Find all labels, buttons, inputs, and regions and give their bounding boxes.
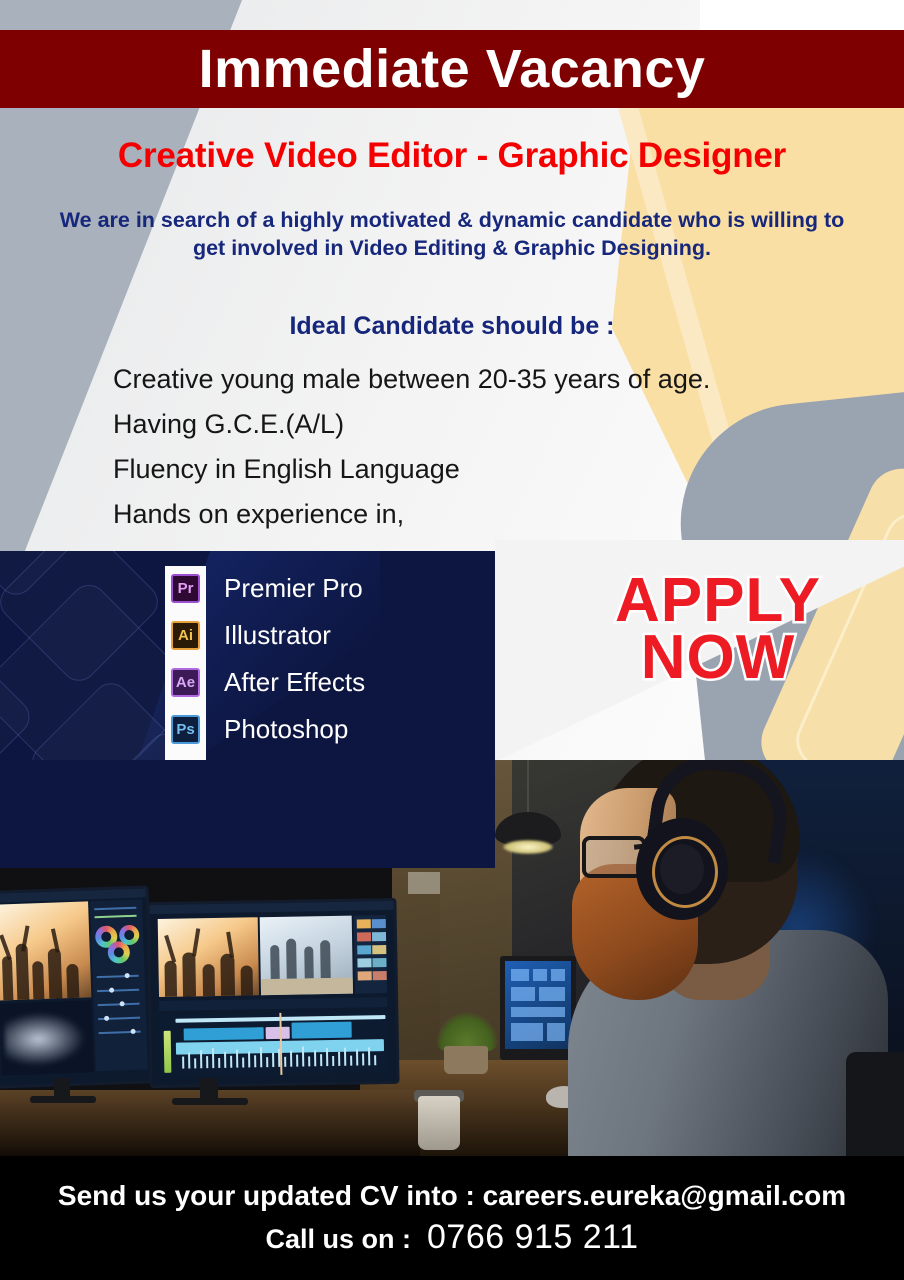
call-us-label: Call us on : <box>266 1224 412 1255</box>
contact-footer: Send us your updated CV into : careers.e… <box>0 1156 904 1280</box>
page-title: Immediate Vacancy <box>199 42 706 96</box>
monitor-timeline <box>159 1011 388 1077</box>
software-label: Illustrator <box>224 620 331 651</box>
editing-monitor-right <box>146 898 399 1088</box>
list-item: Fluency in English Language <box>113 447 853 492</box>
office-chair <box>846 1052 904 1156</box>
adobe-premiere-pro-icon: Pr <box>171 574 200 603</box>
list-item: Pr Premier Pro <box>165 566 495 611</box>
monitor-media-bin <box>354 915 387 994</box>
lamp-cord <box>527 760 529 820</box>
monitor-stand <box>54 1078 70 1098</box>
header-bar: Immediate Vacancy <box>0 30 904 108</box>
monitor-preview-clip <box>0 901 91 1000</box>
software-label: Photoshop <box>224 714 348 745</box>
apply-now-callout[interactable]: APPLY NOW <box>578 572 858 686</box>
monitor-stand <box>200 1078 218 1100</box>
list-item: Ps Photoshop <box>165 707 495 752</box>
job-vacancy-poster: Immediate Vacancy Creative Video Editor … <box>0 0 904 1280</box>
lamp-bulb <box>503 840 553 854</box>
audio-meter <box>164 1031 172 1073</box>
job-position-subtitle: Creative Video Editor - Graphic Designer <box>0 136 904 176</box>
list-item: Creative young male between 20-35 years … <box>113 357 853 402</box>
ideal-candidate-heading: Ideal Candidate should be : <box>0 312 904 341</box>
editing-monitor-left <box>0 885 155 1088</box>
list-item: Hands on experience in, <box>113 492 853 537</box>
contact-email-line[interactable]: Send us your updated CV into : careers.e… <box>58 1180 846 1212</box>
monitor-base <box>30 1096 96 1103</box>
list-item: Ai Illustrator <box>165 613 495 658</box>
adobe-photoshop-icon: Ps <box>171 715 200 744</box>
software-label: Premier Pro <box>224 573 363 604</box>
contact-phone-row: Call us on : 0766 915 211 <box>266 1218 639 1257</box>
adobe-after-effects-icon: Ae <box>171 668 200 697</box>
contact-phone-number[interactable]: 0766 915 211 <box>427 1218 638 1257</box>
apply-now-line2: NOW <box>578 629 858 686</box>
software-label: After Effects <box>224 667 365 698</box>
monitor-base <box>172 1098 248 1105</box>
monitor-preview-right <box>260 916 353 996</box>
monitor-toolbar <box>159 997 387 1011</box>
intro-paragraph: We are in search of a highly motivated &… <box>46 207 858 262</box>
monitor-tools-panel <box>90 900 148 1072</box>
adobe-illustrator-icon: Ai <box>171 621 200 650</box>
cork-note <box>408 872 440 894</box>
plant-pot <box>444 1046 488 1074</box>
photo-navy-overlap <box>0 760 495 868</box>
video-editor-at-workstation-photo <box>0 760 904 1156</box>
monitor-preview-left <box>158 917 259 997</box>
list-item: Ae After Effects <box>165 660 495 705</box>
monitor-menubar <box>149 901 393 914</box>
list-item: Having G.C.E.(A/L) <box>113 402 853 447</box>
requirements-list: Creative young male between 20-35 years … <box>113 357 853 537</box>
apply-now-line1: APPLY <box>578 572 858 629</box>
headphones-inner <box>660 844 704 894</box>
secondary-monitor-screen <box>505 961 571 1049</box>
coffee-cup <box>418 1096 460 1150</box>
